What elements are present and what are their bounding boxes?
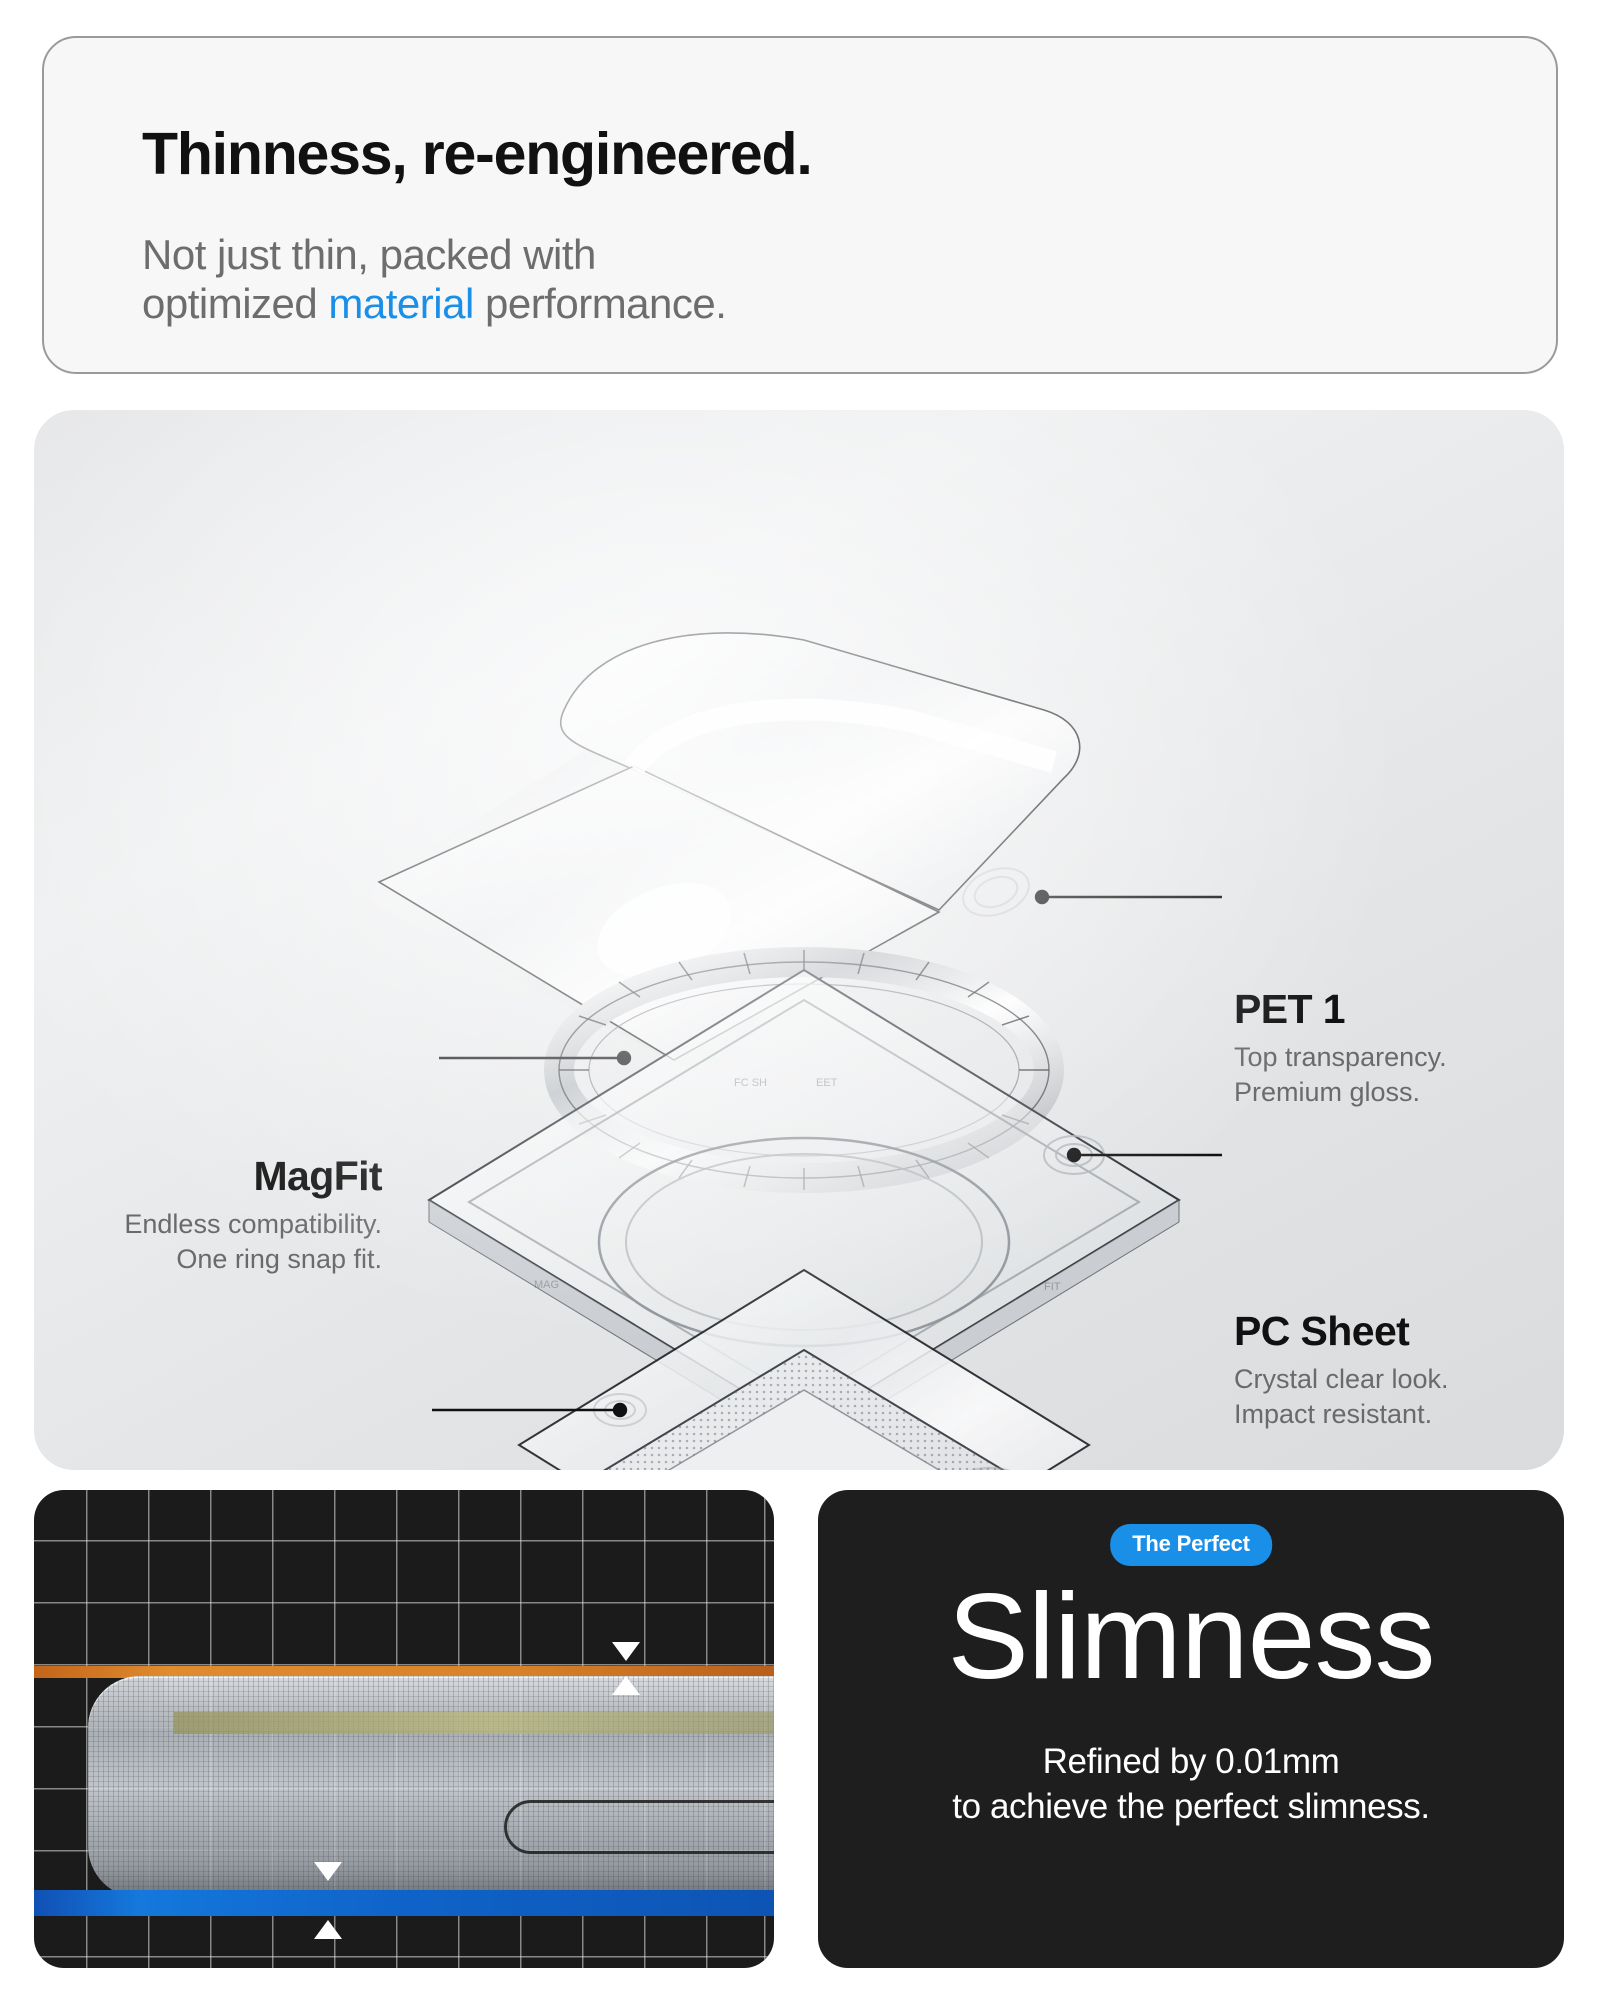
measure-marker-bottom-down-icon [314,1862,342,1881]
slimness-title: Slimness [948,1568,1435,1705]
callout-pc-sheet-desc-2: Impact resistant. [1234,1399,1432,1429]
callout-pet1-title: PET 1 [1234,988,1447,1031]
infographic-page: Thinness, re-engineered. Not just thin, … [0,0,1600,2000]
callout-pet1-desc: Top transparency. Premium gloss. [1234,1040,1447,1109]
measure-marker-top-down-icon [612,1642,640,1661]
phone-internal-strip [174,1712,774,1734]
measure-marker-top-up-icon [612,1676,640,1695]
phone-button-cutout [504,1800,774,1854]
header-card: Thinness, re-engineered. Not just thin, … [42,36,1558,374]
callout-pet1: PET 1 Top transparency. Premium gloss. [1234,988,1447,1109]
callout-pc-sheet: PC Sheet Crystal clear look. Impact resi… [1234,1310,1449,1431]
svg-text:FIT: FIT [1044,1281,1061,1293]
svg-text:FC SH: FC SH [734,1077,767,1089]
callout-magfit-title: MagFit [34,1155,382,1198]
phone-cross-section [88,1676,774,1898]
cross-section-panel [34,1490,774,1968]
slimness-panel: The Perfect Slimness Refined by 0.01mm t… [818,1490,1564,1968]
subtitle-accent-word: material [328,280,473,327]
subtitle-line-2-post: performance. [474,280,727,327]
exploded-diagram-panel: FC SHEET MAGFIT [34,410,1564,1470]
slimness-subtitle-2: to achieve the perfect slimness. [952,1787,1429,1826]
svg-text:EET: EET [816,1077,838,1089]
callout-pc-sheet-desc: Crystal clear look. Impact resistant. [1234,1362,1449,1431]
thickness-band-bottom [34,1890,774,1916]
subtitle-line-2-pre: optimized [142,280,328,327]
page-subtitle: Not just thin, packed with optimized mat… [142,230,726,328]
callout-magfit-desc: Endless compatibility. One ring snap fit… [34,1207,382,1276]
leader-pet1 [1036,891,1222,903]
leader-magfit [439,1052,630,1064]
page-title: Thinness, re-engineered. [142,120,812,188]
subtitle-line-1: Not just thin, packed with [142,231,596,278]
callout-magfit-desc-1: Endless compatibility. [124,1209,382,1239]
measure-marker-bottom-up-icon [314,1920,342,1939]
callout-magfit: MagFit Endless compatibility. One ring s… [34,1155,382,1276]
slimness-subtitle-1: Refined by 0.01mm [1043,1742,1340,1781]
callout-magfit-desc-2: One ring snap fit. [176,1244,382,1274]
callout-pc-sheet-title: PC Sheet [1234,1310,1449,1353]
callout-pet1-desc-2: Premium gloss. [1234,1077,1420,1107]
callout-pet1-desc-1: Top transparency. [1234,1042,1447,1072]
slimness-subtitle: Refined by 0.01mm to achieve the perfect… [831,1740,1551,1830]
status-badge: The Perfect [1110,1524,1272,1566]
svg-text:MAG: MAG [534,1279,559,1291]
callout-pc-sheet-desc-1: Crystal clear look. [1234,1364,1449,1394]
